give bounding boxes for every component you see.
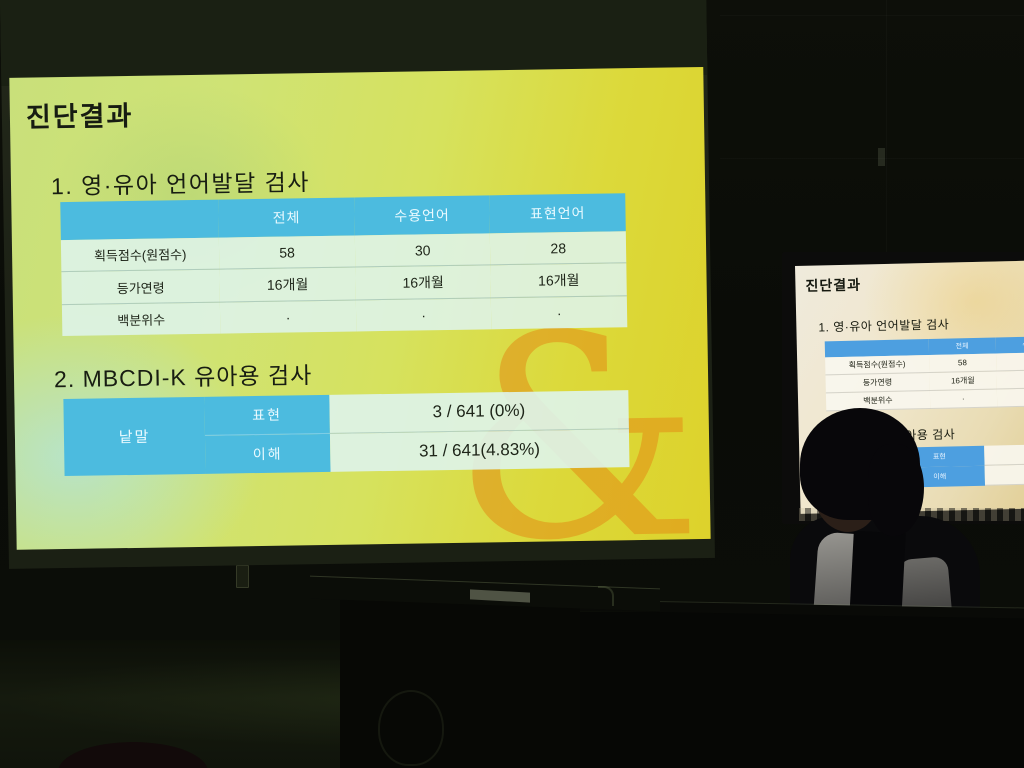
row-label-equivalent-age: 등가연령	[61, 269, 220, 304]
monitor-language-table: 전체 수용언어 획득점수(원점수) 58 30 등가연령 16개월 16개월 백…	[825, 336, 1024, 412]
sub-expression: 표현	[205, 395, 330, 435]
section1-heading: 1. 영·유아 언어발달 검사	[51, 163, 310, 201]
language-development-table: 전체 수용언어 표현언어 획득점수(원점수) 58 30 28	[60, 193, 627, 336]
cell-age-receptive: 16개월	[355, 265, 491, 300]
slide-title: 진단결과	[26, 94, 134, 135]
wall-seam-horizontal	[720, 158, 1024, 159]
wall-marker-icon	[878, 148, 885, 166]
category-word: 낱말	[63, 397, 205, 476]
monitor-row-label-equivalent-age: 등가연령	[825, 372, 929, 392]
desk-lower	[560, 612, 1024, 768]
header-blank	[60, 200, 219, 240]
projected-slide: & 진단결과 1. 영·유아 언어발달 검사 전체 수용언어 표현언어	[9, 67, 710, 550]
cell-pct-expressive: ·	[491, 296, 627, 330]
header-total: 전체	[218, 197, 354, 237]
monitor-cell-raw-receptive: 30	[996, 352, 1024, 371]
cell-age-expressive: 16개월	[491, 263, 627, 298]
row-label-percentile: 백분위수	[62, 302, 221, 336]
wall-seam-horizontal-upper	[720, 15, 1024, 16]
section2-heading: 2. MBCDI-K 유아용 검사	[54, 356, 313, 394]
monitor-cell-pct-receptive: ·	[997, 387, 1024, 407]
monitor-section1-heading: 1. 영·유아 언어발달 검사	[818, 316, 949, 336]
sub-comprehension: 이해	[205, 433, 330, 473]
cell-raw-expressive: 28	[490, 231, 626, 265]
mbcdi-k-table: 낱말 표현 3 / 641 (0%) 이해 31 / 641(4.83%)	[63, 390, 629, 476]
monitor-header-total: 전체	[928, 337, 995, 355]
cell-raw-total: 58	[219, 235, 355, 269]
cell-age-total: 16개월	[220, 267, 356, 302]
monitor-slide-title: 진단결과	[805, 275, 861, 296]
value-comprehension: 31 / 641(4.83%)	[329, 429, 629, 472]
podium-body	[340, 600, 580, 768]
monitor-cell-raw-total: 58	[929, 353, 996, 372]
wall-outlet	[236, 565, 249, 588]
lecture-room-photo: & 진단결과 1. 영·유아 언어발달 검사 전체 수용언어 표현언어	[0, 0, 1024, 768]
cell-raw-receptive: 30	[355, 233, 491, 267]
monitor-cell-pct-total: ·	[930, 389, 997, 409]
projection-screen: & 진단결과 1. 영·유아 언어발달 검사 전체 수용언어 표현언어	[0, 0, 715, 569]
header-expressive: 표현언어	[490, 193, 626, 233]
monitor-cell-age-total: 16개월	[929, 371, 996, 391]
monitor-cell-age-receptive: 16개월	[996, 369, 1024, 389]
cell-pct-total: ·	[220, 300, 356, 334]
monitor-header-receptive: 수용언어	[995, 336, 1024, 354]
microphone-icon	[598, 586, 614, 606]
header-receptive: 수용언어	[354, 195, 490, 235]
value-expression: 3 / 641 (0%)	[329, 390, 629, 433]
cell-pct-receptive: ·	[356, 298, 492, 332]
podium-emblem	[378, 690, 444, 766]
row-label-raw-score: 획득점수(원점수)	[61, 238, 220, 272]
